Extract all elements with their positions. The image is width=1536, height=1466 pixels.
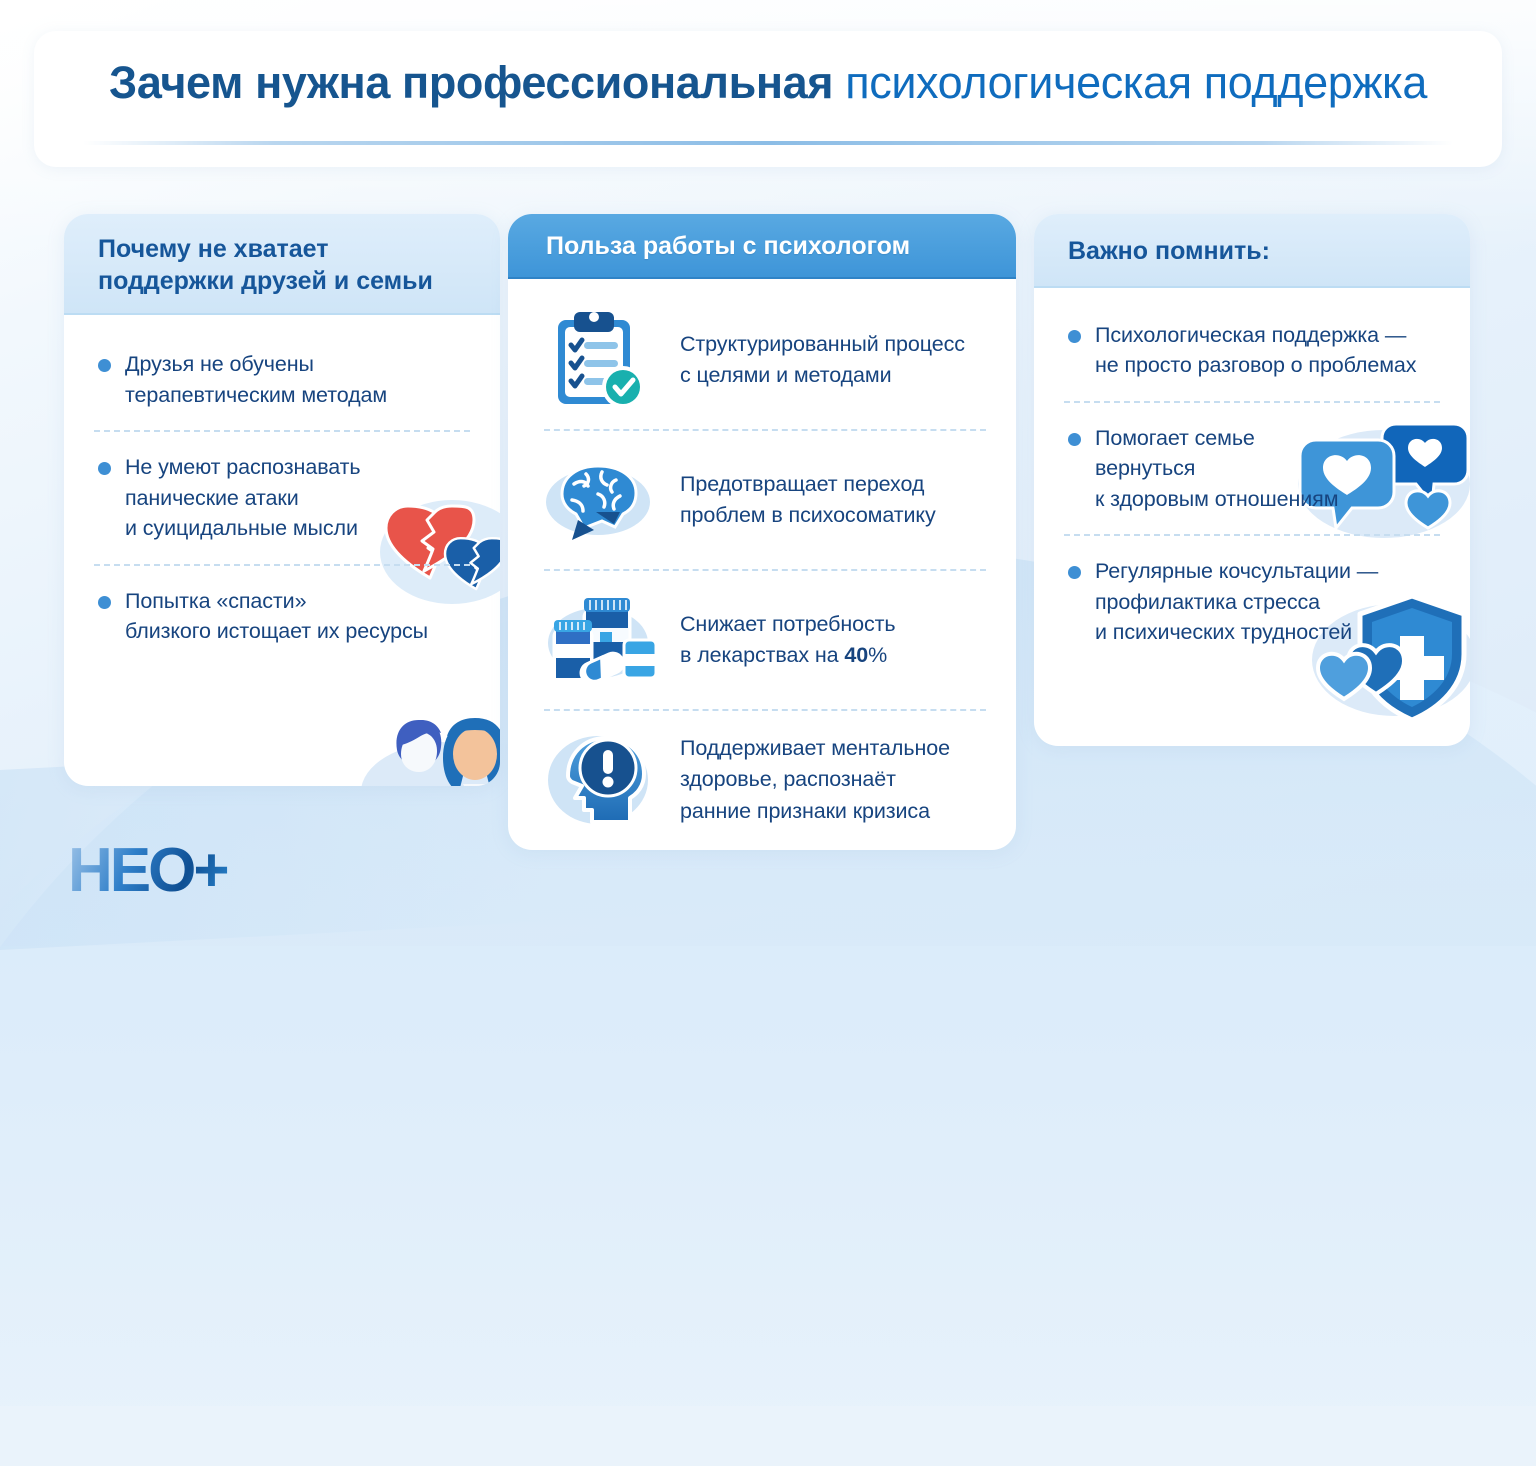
head-alert-icon: [540, 728, 664, 832]
list-item: Психологическая поддержка —не просто раз…: [1060, 300, 1444, 401]
bullet-dot-icon: [1068, 330, 1081, 343]
page-title-strong: Зачем нужна профессиональная: [109, 57, 845, 108]
list-item: Регулярные кочсультации —профилактика ст…: [1060, 536, 1444, 668]
brand-logo: НЕО+: [68, 840, 298, 910]
panel-important-to-remember: Важно помнить: Психологическая поддержка…: [1034, 214, 1470, 746]
bullet-dot-icon: [98, 596, 111, 609]
list-item: Помогает семьевернутьсяк здоровым отноше…: [1060, 403, 1444, 535]
middle-panel-body: Структурированный процессс целями и мето…: [508, 279, 1016, 849]
feature-row: Структурированный процессс целями и мето…: [534, 291, 990, 429]
bullet-dot-icon: [1068, 433, 1081, 446]
feature-row: Предотвращает переходпроблем в психосома…: [534, 431, 990, 569]
page-title-light: психологическая поддержка: [845, 57, 1427, 108]
feature-row: Поддерживает ментальноездоровье, распозн…: [534, 711, 990, 849]
list-item: Друзья не обученытерапевтическим методам: [90, 329, 474, 430]
feature-label: Структурированный процессс целями и мето…: [680, 329, 965, 391]
panel-benefits-of-psychologist: Польза работы с психологом: [508, 214, 1016, 850]
list-item-label: Не умеют распознаватьпанические атакии с…: [125, 452, 361, 544]
feature-label: Поддерживает ментальноездоровье, распозн…: [680, 733, 950, 827]
left-panel-body: Друзья не обученытерапевтическим методам…: [64, 315, 500, 667]
list-item-label: Помогает семьевернутьсяк здоровым отноше…: [1095, 423, 1338, 515]
brain-icon: [540, 448, 664, 552]
list-item-label: Друзья не обученытерапевтическим методам: [125, 349, 387, 410]
two-people-illustration: [339, 688, 500, 786]
feature-highlight-suffix: %: [868, 643, 887, 667]
brand-logo-text: НЕО+: [68, 840, 298, 902]
page-title: Зачем нужна профессиональная психологиче…: [34, 59, 1502, 106]
feature-label: Снижает потребностьв лекарствах на 40%: [680, 609, 896, 671]
bullet-dot-icon: [98, 359, 111, 372]
feature-label: Предотвращает переходпроблем в психосома…: [680, 469, 936, 531]
medicine-bottles-icon: [540, 588, 664, 692]
title-card: Зачем нужна профессиональная психологиче…: [34, 31, 1502, 167]
list-item-label: Психологическая поддержка —не просто раз…: [1095, 320, 1416, 381]
left-panel-header: Почему не хватает поддержки друзей и сем…: [64, 214, 500, 315]
list-item-label: Попытка «спасти»близкого истощает их рес…: [125, 586, 428, 647]
feature-highlight-value: 40: [844, 643, 868, 667]
list-item: Не умеют распознаватьпанические атакии с…: [90, 432, 474, 564]
list-item-label: Регулярные кочсультации —профилактика ст…: [1095, 556, 1378, 648]
feature-row: Снижает потребностьв лекарствах на 40%: [534, 571, 990, 709]
middle-panel-header-title: Польза работы с психологом: [508, 214, 1016, 277]
panel-why-friends-family: Почему не хватает поддержки друзей и сем…: [64, 214, 500, 786]
left-panel-header-title: Почему не хватает поддержки друзей и сем…: [64, 214, 500, 313]
clipboard-checklist-icon: [540, 308, 664, 412]
left-panel-header-line2: поддержки друзей и семьи: [98, 266, 474, 298]
right-panel-header: Важно помнить:: [1034, 214, 1470, 288]
middle-panel-header: Польза работы с психологом: [508, 214, 1016, 279]
list-item: Попытка «спасти»близкого истощает их рес…: [90, 566, 474, 667]
bullet-dot-icon: [98, 462, 111, 475]
left-panel-header-line1: Почему не хватает: [98, 234, 474, 266]
right-panel-header-title: Важно помнить:: [1034, 214, 1470, 286]
bullet-dot-icon: [1068, 566, 1081, 579]
title-underline-rule: [83, 141, 1453, 145]
right-panel-body: Психологическая поддержка —не просто раз…: [1034, 288, 1470, 668]
